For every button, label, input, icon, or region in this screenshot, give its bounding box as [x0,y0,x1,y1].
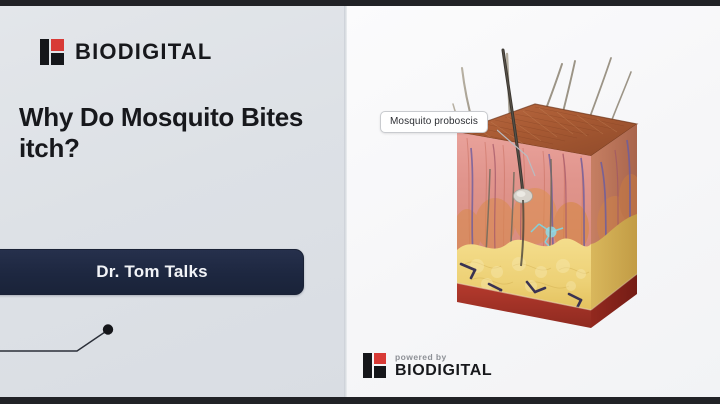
annotation-label-text: Mosquito proboscis [390,116,478,127]
speaker-name-label: Dr. Tom Talks [82,262,208,282]
biodigital-logo-icon [363,353,386,378]
powered-by-wordmark: BIODIGITAL [395,363,492,379]
brand-wordmark: BIODIGITAL [75,41,212,63]
page-title: Why Do Mosquito Bites itch? [19,102,329,164]
callout-leader-line-icon [0,306,150,366]
letterbox-bottom [0,397,720,404]
powered-by-lockup: powered by BIODIGITAL [363,353,492,380]
annotation-leader-line-icon [497,124,557,194]
left-title-panel: BIODIGITAL Why Do Mosquito Bites itch? D… [0,6,344,397]
panel-divider [344,6,347,397]
letterbox-top [0,0,720,6]
video-frame: BIODIGITAL Why Do Mosquito Bites itch? D… [0,0,720,404]
powered-by-label: powered by [395,353,492,362]
annotation-label-mosquito-proboscis[interactable]: Mosquito proboscis [380,111,488,133]
right-model-panel: Mosquito proboscis powered by BIODIGITAL [347,6,720,397]
speaker-name-bar: Dr. Tom Talks [0,249,304,295]
brand-lockup: BIODIGITAL [40,39,212,65]
biodigital-logo-icon [40,39,64,65]
